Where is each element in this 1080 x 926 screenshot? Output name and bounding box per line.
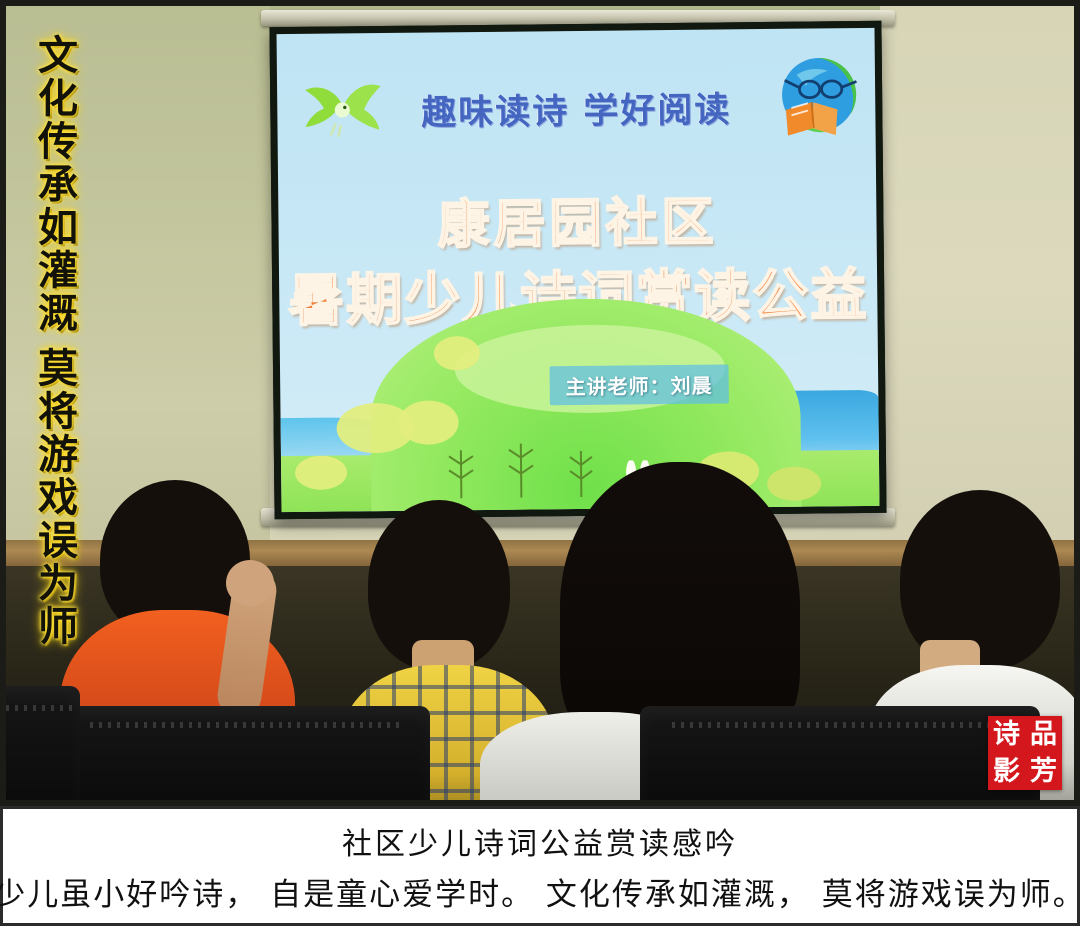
projector-screen: 趣味读诗 学好阅读 康居园社区 暑期少儿诗词赏读公益课 xyxy=(255,10,900,530)
seal-char-1: 诗 xyxy=(993,721,1020,748)
hand xyxy=(226,560,274,606)
seal-char-4: 芳 xyxy=(1030,758,1057,785)
seal-char-3: 影 xyxy=(993,758,1020,785)
caption-title: 社区少儿诗词公益赏读感吟 xyxy=(342,819,738,863)
chair-left xyxy=(60,706,430,806)
chair-far-left xyxy=(0,686,80,806)
caption-poem: 少儿虽小好吟诗， 自是童心爱学时。 文化传承如灌溉， 莫将游戏误为师。 xyxy=(0,869,1080,914)
slide-header-text: 趣味读诗 学好阅读 xyxy=(277,80,876,137)
photo-area: 趣味读诗 学好阅读 康居园社区 暑期少儿诗词赏读公益课 xyxy=(0,0,1080,806)
calligraphy-column-1: 文化传承如灌溉 xyxy=(33,34,75,335)
poster-page: 趣味读诗 学好阅读 康居园社区 暑期少儿诗词赏读公益课 xyxy=(0,0,1080,926)
presentation-slide: 趣味读诗 学好阅读 康居园社区 暑期少儿诗词赏读公益课 xyxy=(277,28,880,512)
wall-right xyxy=(880,0,1080,560)
seal-char-2: 品 xyxy=(1030,721,1057,748)
vertical-calligraphy: 文化传承如灌溉 莫将游戏误为师 xyxy=(22,34,86,648)
screen-frame: 趣味读诗 学好阅读 康居园社区 暑期少儿诗词赏读公益课 xyxy=(269,21,886,519)
calligraphy-column-2: 莫将游戏误为师 xyxy=(33,347,75,648)
seal-stamp: 诗 品 影 芳 xyxy=(988,716,1062,790)
slide-teacher-tag: 主讲老师：刘晨 xyxy=(549,364,728,405)
caption-box: 社区少儿诗词公益赏读感吟 少儿虽小好吟诗， 自是童心爱学时。 文化传承如灌溉， … xyxy=(0,806,1080,926)
slide-title-line-1: 康居园社区 xyxy=(278,178,877,259)
chair-right xyxy=(640,706,1040,806)
